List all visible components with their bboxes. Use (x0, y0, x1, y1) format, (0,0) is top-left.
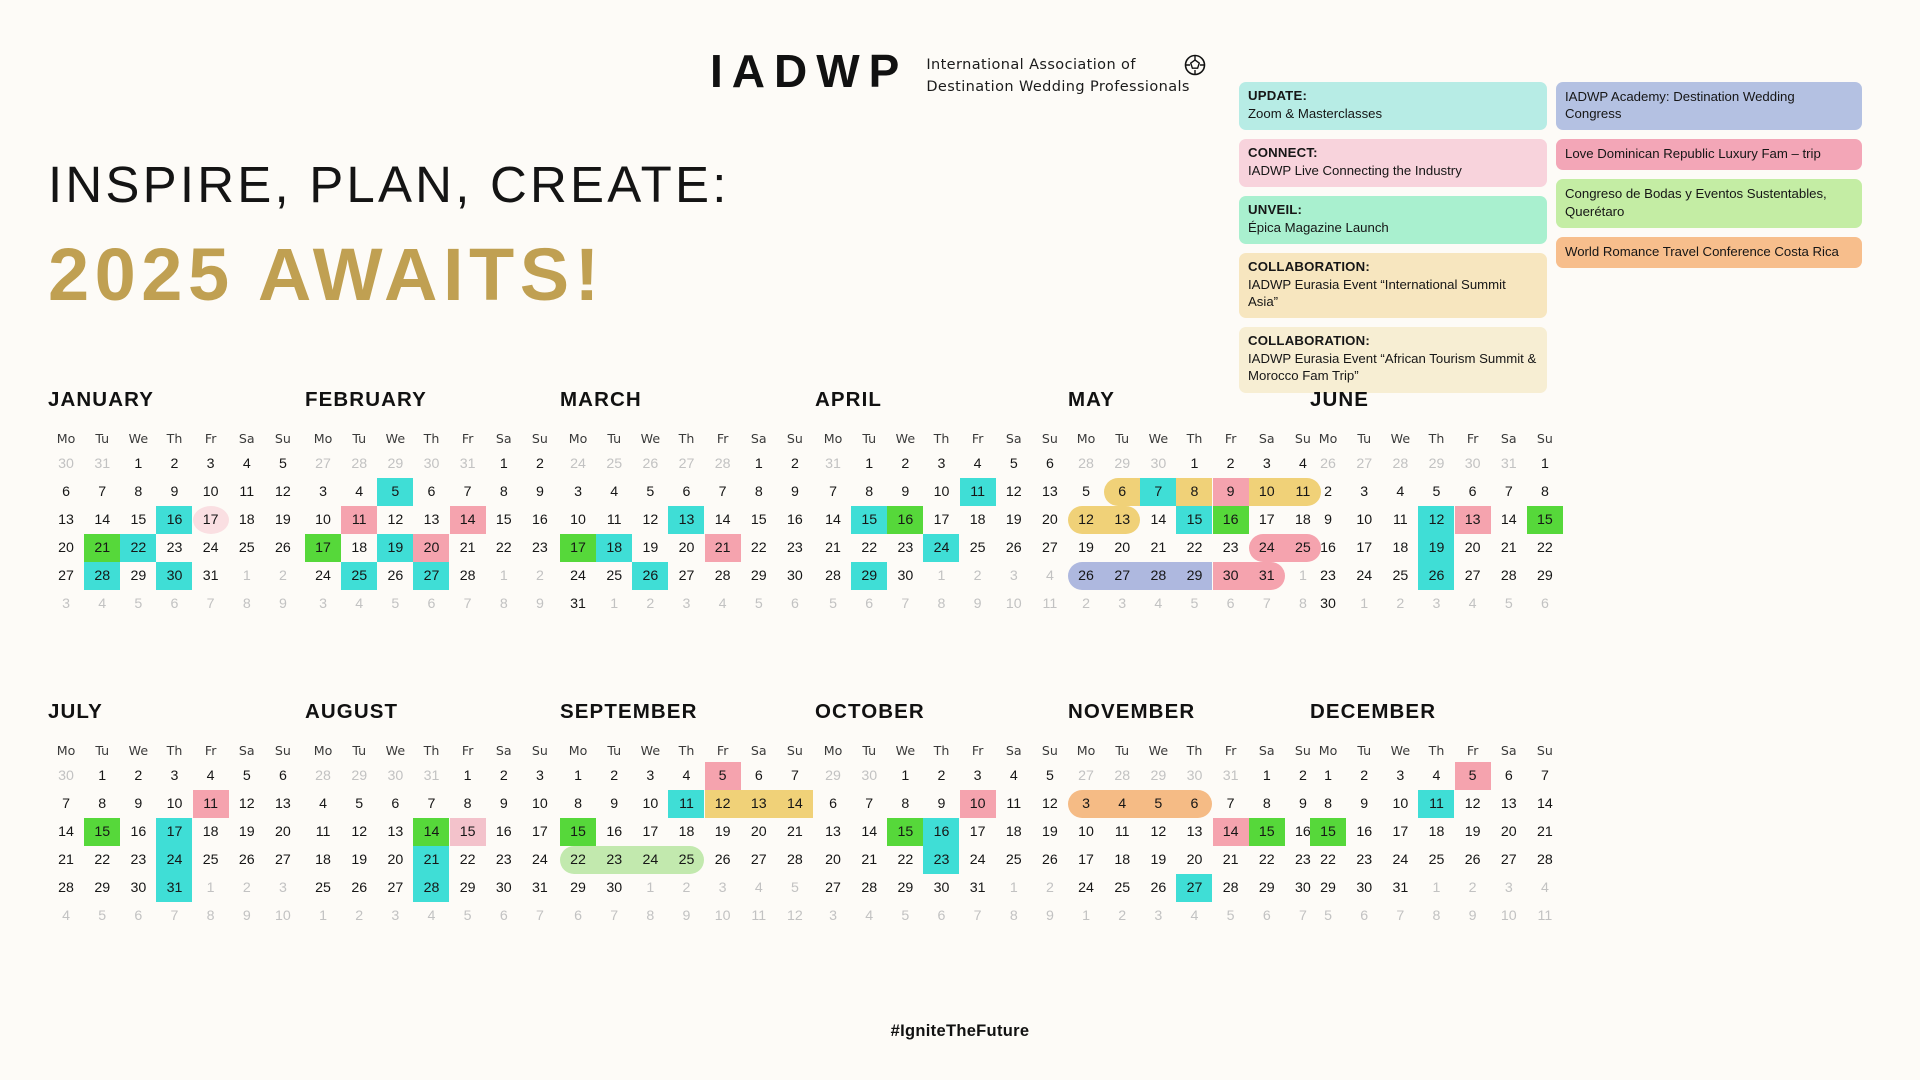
day-cell[interactable]: 21 (1140, 534, 1176, 562)
day-cell[interactable]: 2 (522, 450, 558, 478)
day-cell[interactable]: 8 (120, 478, 156, 506)
day-cell[interactable]: 20 (48, 534, 84, 562)
day-cell[interactable]: 20 (377, 846, 413, 874)
day-cell[interactable]: 27 (265, 846, 301, 874)
day-cell-highlighted[interactable]: 14 (777, 790, 813, 818)
day-cell[interactable]: 7 (1527, 762, 1563, 790)
day-cell[interactable]: 20 (1491, 818, 1527, 846)
day-cell[interactable]: 17 (1382, 818, 1418, 846)
day-cell-highlighted[interactable]: 25 (341, 562, 377, 590)
day-cell[interactable]: 28 (48, 874, 84, 902)
day-cell[interactable]: 13 (48, 506, 84, 534)
day-cell[interactable]: 22 (450, 846, 486, 874)
day-cell[interactable]: 16 (777, 506, 813, 534)
day-cell[interactable]: 29 (1310, 874, 1346, 902)
day-cell[interactable]: 14 (1491, 506, 1527, 534)
day-cell-highlighted[interactable]: 15 (560, 818, 596, 846)
day-cell[interactable]: 30 (777, 562, 813, 590)
day-cell[interactable]: 24 (560, 562, 596, 590)
day-cell-highlighted[interactable]: 8 (1176, 478, 1212, 506)
day-cell[interactable]: 17 (960, 818, 996, 846)
day-cell[interactable]: 13 (377, 818, 413, 846)
day-cell[interactable]: 1 (1527, 450, 1563, 478)
day-cell[interactable]: 19 (1140, 846, 1176, 874)
day-cell[interactable]: 29 (560, 874, 596, 902)
day-cell[interactable]: 4 (229, 450, 265, 478)
day-cell[interactable]: 8 (1310, 790, 1346, 818)
day-cell[interactable]: 22 (84, 846, 120, 874)
day-cell[interactable]: 21 (851, 846, 887, 874)
day-cell[interactable]: 8 (851, 478, 887, 506)
day-cell[interactable]: 31 (960, 874, 996, 902)
day-cell-highlighted[interactable]: 14 (450, 506, 486, 534)
day-cell-highlighted[interactable]: 16 (923, 818, 959, 846)
day-cell[interactable]: 4 (668, 762, 704, 790)
day-cell-highlighted[interactable]: 25 (668, 846, 704, 874)
day-cell[interactable]: 7 (705, 478, 741, 506)
day-cell[interactable]: 23 (887, 534, 923, 562)
day-cell[interactable]: 25 (960, 534, 996, 562)
day-cell[interactable]: 24 (305, 562, 341, 590)
day-cell[interactable]: 7 (815, 478, 851, 506)
day-cell-highlighted[interactable]: 14 (1213, 818, 1249, 846)
day-cell[interactable]: 2 (1346, 762, 1382, 790)
day-cell[interactable]: 27 (1455, 562, 1491, 590)
day-cell[interactable]: 23 (156, 534, 192, 562)
day-cell[interactable]: 12 (341, 818, 377, 846)
day-cell-highlighted[interactable]: 29 (1176, 562, 1212, 590)
day-cell-highlighted[interactable]: 17 (560, 534, 596, 562)
day-cell[interactable]: 5 (1032, 762, 1068, 790)
day-cell[interactable]: 15 (741, 506, 777, 534)
day-cell[interactable]: 12 (265, 478, 301, 506)
day-cell[interactable]: 19 (341, 846, 377, 874)
day-cell[interactable]: 3 (193, 450, 229, 478)
day-cell[interactable]: 16 (1310, 534, 1346, 562)
day-cell-highlighted[interactable]: 23 (596, 846, 632, 874)
day-cell[interactable]: 6 (413, 478, 449, 506)
day-cell[interactable]: 28 (1213, 874, 1249, 902)
day-cell[interactable]: 6 (265, 762, 301, 790)
day-cell[interactable]: 4 (996, 762, 1032, 790)
day-cell[interactable]: 29 (741, 562, 777, 590)
day-cell-highlighted[interactable]: 4 (1104, 790, 1140, 818)
day-cell[interactable]: 17 (923, 506, 959, 534)
day-cell[interactable]: 10 (193, 478, 229, 506)
day-cell[interactable]: 24 (960, 846, 996, 874)
day-cell[interactable]: 29 (120, 562, 156, 590)
day-cell-highlighted[interactable]: 27 (413, 562, 449, 590)
day-cell[interactable]: 17 (632, 818, 668, 846)
day-cell-highlighted[interactable]: 5 (377, 478, 413, 506)
day-cell[interactable]: 19 (1455, 818, 1491, 846)
day-cell[interactable]: 12 (1455, 790, 1491, 818)
day-cell[interactable]: 10 (632, 790, 668, 818)
day-cell-highlighted[interactable]: 15 (1310, 818, 1346, 846)
day-cell[interactable]: 3 (1382, 762, 1418, 790)
day-cell[interactable]: 14 (851, 818, 887, 846)
day-cell[interactable]: 2 (1213, 450, 1249, 478)
day-cell[interactable]: 20 (668, 534, 704, 562)
day-cell-highlighted[interactable]: 17 (156, 818, 192, 846)
day-cell[interactable]: 10 (923, 478, 959, 506)
day-cell-highlighted[interactable]: 24 (1249, 534, 1285, 562)
day-cell-highlighted[interactable]: 27 (1104, 562, 1140, 590)
day-cell[interactable]: 10 (156, 790, 192, 818)
day-cell-highlighted[interactable]: 7 (1140, 478, 1176, 506)
day-cell[interactable]: 27 (48, 562, 84, 590)
day-cell[interactable]: 29 (1249, 874, 1285, 902)
day-cell[interactable]: 6 (1032, 450, 1068, 478)
day-cell[interactable]: 6 (815, 790, 851, 818)
day-cell[interactable]: 1 (486, 450, 522, 478)
day-cell[interactable]: 5 (229, 762, 265, 790)
day-cell-highlighted[interactable]: 21 (705, 534, 741, 562)
day-cell-highlighted[interactable]: 16 (156, 506, 192, 534)
day-cell[interactable]: 17 (1249, 506, 1285, 534)
day-cell-highlighted[interactable]: 11 (960, 478, 996, 506)
day-cell[interactable]: 30 (1346, 874, 1382, 902)
day-cell-highlighted[interactable]: 15 (887, 818, 923, 846)
day-cell[interactable]: 20 (1104, 534, 1140, 562)
day-cell[interactable]: 31 (522, 874, 558, 902)
day-cell[interactable]: 24 (522, 846, 558, 874)
day-cell-highlighted[interactable]: 30 (1213, 562, 1249, 590)
day-cell-highlighted[interactable]: 3 (1068, 790, 1104, 818)
day-cell[interactable]: 24 (1382, 846, 1418, 874)
day-cell[interactable]: 22 (851, 534, 887, 562)
day-cell-highlighted[interactable]: 15 (1176, 506, 1212, 534)
day-cell[interactable]: 15 (486, 506, 522, 534)
day-cell[interactable]: 25 (596, 562, 632, 590)
day-cell-highlighted[interactable]: 24 (923, 534, 959, 562)
day-cell[interactable]: 9 (1310, 506, 1346, 534)
day-cell-highlighted[interactable]: 28 (413, 874, 449, 902)
day-cell[interactable]: 26 (705, 846, 741, 874)
day-cell[interactable]: 27 (668, 562, 704, 590)
day-cell-highlighted[interactable]: 5 (1455, 762, 1491, 790)
day-cell[interactable]: 9 (923, 790, 959, 818)
day-cell[interactable]: 14 (1140, 506, 1176, 534)
day-cell[interactable]: 11 (596, 506, 632, 534)
day-cell[interactable]: 3 (1346, 478, 1382, 506)
day-cell-highlighted[interactable]: 5 (705, 762, 741, 790)
day-cell[interactable]: 6 (741, 762, 777, 790)
day-cell-highlighted[interactable]: 21 (413, 846, 449, 874)
day-cell[interactable]: 25 (1104, 874, 1140, 902)
day-cell-highlighted[interactable]: 17 (305, 534, 341, 562)
day-cell[interactable]: 25 (229, 534, 265, 562)
day-cell[interactable]: 14 (48, 818, 84, 846)
day-cell[interactable]: 25 (996, 846, 1032, 874)
day-cell[interactable]: 9 (156, 478, 192, 506)
day-cell[interactable]: 23 (1310, 562, 1346, 590)
day-cell-highlighted[interactable]: 10 (960, 790, 996, 818)
day-cell[interactable]: 25 (305, 874, 341, 902)
day-cell[interactable]: 14 (1527, 790, 1563, 818)
day-cell[interactable]: 26 (341, 874, 377, 902)
day-cell[interactable]: 10 (522, 790, 558, 818)
day-cell[interactable]: 7 (851, 790, 887, 818)
day-cell[interactable]: 14 (705, 506, 741, 534)
day-cell[interactable]: 14 (815, 506, 851, 534)
day-cell-highlighted[interactable]: 15 (1527, 506, 1563, 534)
day-cell-highlighted[interactable]: 22 (120, 534, 156, 562)
day-cell[interactable]: 22 (1249, 846, 1285, 874)
day-cell[interactable]: 22 (486, 534, 522, 562)
day-cell[interactable]: 6 (1455, 478, 1491, 506)
day-cell[interactable]: 20 (815, 846, 851, 874)
day-cell[interactable]: 2 (887, 450, 923, 478)
day-cell[interactable]: 6 (1491, 762, 1527, 790)
day-cell[interactable]: 26 (1032, 846, 1068, 874)
day-cell-highlighted[interactable]: 13 (1104, 506, 1140, 534)
day-cell[interactable]: 18 (1382, 534, 1418, 562)
day-cell[interactable]: 16 (1346, 818, 1382, 846)
day-cell[interactable]: 19 (705, 818, 741, 846)
day-cell[interactable]: 21 (815, 534, 851, 562)
day-cell-highlighted[interactable]: 21 (84, 534, 120, 562)
day-cell-highlighted[interactable]: 26 (1418, 562, 1454, 590)
day-cell-highlighted[interactable]: 11 (668, 790, 704, 818)
day-cell[interactable]: 12 (1032, 790, 1068, 818)
day-cell[interactable]: 3 (923, 450, 959, 478)
day-cell[interactable]: 12 (229, 790, 265, 818)
day-cell[interactable]: 12 (1140, 818, 1176, 846)
day-cell[interactable]: 9 (120, 790, 156, 818)
day-cell-highlighted[interactable]: 19 (377, 534, 413, 562)
day-cell[interactable]: 7 (413, 790, 449, 818)
day-cell-highlighted[interactable]: 29 (851, 562, 887, 590)
day-cell-highlighted[interactable]: 26 (632, 562, 668, 590)
day-cell[interactable]: 16 (522, 506, 558, 534)
day-cell[interactable]: 7 (48, 790, 84, 818)
day-cell-highlighted[interactable]: 15 (450, 818, 486, 846)
day-cell[interactable]: 16 (596, 818, 632, 846)
day-cell[interactable]: 28 (1491, 562, 1527, 590)
day-cell-highlighted[interactable]: 13 (668, 506, 704, 534)
day-cell[interactable]: 21 (777, 818, 813, 846)
day-cell-highlighted[interactable]: 16 (887, 506, 923, 534)
day-cell[interactable]: 2 (1310, 478, 1346, 506)
day-cell[interactable]: 4 (341, 478, 377, 506)
day-cell[interactable]: 28 (1527, 846, 1563, 874)
day-cell[interactable]: 30 (1310, 590, 1346, 618)
day-cell-highlighted[interactable]: 24 (632, 846, 668, 874)
day-cell[interactable]: 26 (996, 534, 1032, 562)
day-cell[interactable]: 10 (305, 506, 341, 534)
day-cell[interactable]: 20 (1176, 846, 1212, 874)
day-cell[interactable]: 10 (1382, 790, 1418, 818)
day-cell[interactable]: 4 (960, 450, 996, 478)
day-cell-highlighted[interactable]: 14 (413, 818, 449, 846)
day-cell[interactable]: 1 (84, 762, 120, 790)
day-cell[interactable]: 30 (120, 874, 156, 902)
day-cell[interactable]: 7 (1491, 478, 1527, 506)
day-cell[interactable]: 18 (229, 506, 265, 534)
day-cell-highlighted[interactable]: 15 (84, 818, 120, 846)
day-cell[interactable]: 26 (1140, 874, 1176, 902)
day-cell-highlighted[interactable]: 12 (705, 790, 741, 818)
day-cell[interactable]: 1 (560, 762, 596, 790)
day-cell[interactable]: 2 (486, 762, 522, 790)
day-cell-highlighted[interactable]: 26 (1068, 562, 1104, 590)
day-cell[interactable]: 19 (1068, 534, 1104, 562)
day-cell[interactable]: 9 (486, 790, 522, 818)
day-cell[interactable]: 9 (1346, 790, 1382, 818)
day-cell[interactable]: 13 (815, 818, 851, 846)
day-cell[interactable]: 27 (815, 874, 851, 902)
day-cell[interactable]: 2 (923, 762, 959, 790)
day-cell[interactable]: 19 (229, 818, 265, 846)
day-cell[interactable]: 23 (486, 846, 522, 874)
day-cell[interactable]: 5 (1418, 478, 1454, 506)
day-cell-highlighted[interactable]: 6 (1104, 478, 1140, 506)
day-cell[interactable]: 29 (887, 874, 923, 902)
day-cell[interactable]: 2 (156, 450, 192, 478)
day-cell[interactable]: 5 (996, 450, 1032, 478)
day-cell[interactable]: 26 (1455, 846, 1491, 874)
day-cell[interactable]: 30 (887, 562, 923, 590)
day-cell[interactable]: 4 (193, 762, 229, 790)
day-cell[interactable]: 19 (996, 506, 1032, 534)
day-cell[interactable]: 28 (777, 846, 813, 874)
day-cell-highlighted[interactable]: 9 (1213, 478, 1249, 506)
day-cell[interactable]: 10 (1068, 818, 1104, 846)
day-cell[interactable]: 11 (305, 818, 341, 846)
day-cell[interactable]: 8 (1249, 790, 1285, 818)
day-cell[interactable]: 4 (596, 478, 632, 506)
day-cell[interactable]: 14 (84, 506, 120, 534)
day-cell[interactable]: 2 (120, 762, 156, 790)
day-cell[interactable]: 22 (1527, 534, 1563, 562)
day-cell[interactable]: 7 (450, 478, 486, 506)
day-cell[interactable]: 21 (48, 846, 84, 874)
day-cell[interactable]: 9 (887, 478, 923, 506)
day-cell[interactable]: 31 (560, 590, 596, 618)
day-cell[interactable]: 3 (960, 762, 996, 790)
day-cell[interactable]: 28 (450, 562, 486, 590)
day-cell[interactable]: 2 (596, 762, 632, 790)
day-cell[interactable]: 21 (1213, 846, 1249, 874)
day-cell[interactable]: 19 (632, 534, 668, 562)
day-cell[interactable]: 30 (486, 874, 522, 902)
day-cell[interactable]: 2 (777, 450, 813, 478)
day-cell[interactable]: 27 (377, 874, 413, 902)
day-cell[interactable]: 30 (923, 874, 959, 902)
day-cell[interactable]: 22 (741, 534, 777, 562)
day-cell[interactable]: 27 (1491, 846, 1527, 874)
day-cell[interactable]: 12 (632, 506, 668, 534)
day-cell[interactable]: 11 (1382, 506, 1418, 534)
day-cell[interactable]: 31 (1382, 874, 1418, 902)
day-cell[interactable]: 13 (413, 506, 449, 534)
day-cell[interactable]: 23 (777, 534, 813, 562)
day-cell[interactable]: 20 (265, 818, 301, 846)
day-cell[interactable]: 25 (193, 846, 229, 874)
day-cell-highlighted[interactable]: 15 (1249, 818, 1285, 846)
day-cell[interactable]: 18 (193, 818, 229, 846)
day-cell[interactable]: 6 (668, 478, 704, 506)
day-cell[interactable]: 4 (1418, 762, 1454, 790)
day-cell-highlighted[interactable]: 17 (193, 506, 229, 534)
day-cell-highlighted[interactable]: 20 (413, 534, 449, 562)
day-cell-highlighted[interactable]: 6 (1176, 790, 1212, 818)
day-cell[interactable]: 6 (48, 478, 84, 506)
day-cell[interactable]: 27 (1032, 534, 1068, 562)
day-cell[interactable]: 21 (450, 534, 486, 562)
day-cell[interactable]: 18 (305, 846, 341, 874)
day-cell[interactable]: 7 (777, 762, 813, 790)
day-cell-highlighted[interactable]: 12 (1068, 506, 1104, 534)
day-cell[interactable]: 11 (229, 478, 265, 506)
day-cell[interactable]: 22 (887, 846, 923, 874)
day-cell[interactable]: 4 (305, 790, 341, 818)
day-cell[interactable]: 29 (84, 874, 120, 902)
day-cell[interactable]: 18 (996, 818, 1032, 846)
day-cell-highlighted[interactable]: 31 (1249, 562, 1285, 590)
day-cell[interactable]: 11 (996, 790, 1032, 818)
day-cell-highlighted[interactable]: 5 (1140, 790, 1176, 818)
day-cell[interactable]: 29 (450, 874, 486, 902)
day-cell[interactable]: 26 (377, 562, 413, 590)
day-cell[interactable]: 23 (120, 846, 156, 874)
day-cell-highlighted[interactable]: 31 (156, 874, 192, 902)
day-cell[interactable]: 3 (522, 762, 558, 790)
day-cell[interactable]: 26 (265, 534, 301, 562)
day-cell[interactable]: 8 (560, 790, 596, 818)
day-cell[interactable]: 26 (229, 846, 265, 874)
day-cell[interactable]: 21 (1491, 534, 1527, 562)
day-cell-highlighted[interactable]: 18 (596, 534, 632, 562)
day-cell-highlighted[interactable]: 13 (1455, 506, 1491, 534)
day-cell[interactable]: 8 (741, 478, 777, 506)
day-cell[interactable]: 13 (1032, 478, 1068, 506)
day-cell[interactable]: 9 (777, 478, 813, 506)
day-cell[interactable]: 8 (450, 790, 486, 818)
day-cell[interactable]: 23 (1213, 534, 1249, 562)
day-cell-highlighted[interactable]: 28 (84, 562, 120, 590)
day-cell-highlighted[interactable]: 22 (560, 846, 596, 874)
day-cell[interactable]: 4 (1382, 478, 1418, 506)
day-cell[interactable]: 3 (156, 762, 192, 790)
day-cell[interactable]: 20 (1455, 534, 1491, 562)
day-cell[interactable]: 12 (996, 478, 1032, 506)
day-cell[interactable]: 1 (450, 762, 486, 790)
day-cell[interactable]: 9 (522, 478, 558, 506)
day-cell[interactable]: 6 (377, 790, 413, 818)
day-cell[interactable]: 22 (1176, 534, 1212, 562)
day-cell[interactable]: 1 (120, 450, 156, 478)
day-cell-highlighted[interactable]: 19 (1418, 534, 1454, 562)
day-cell[interactable]: 17 (522, 818, 558, 846)
day-cell[interactable]: 7 (1213, 790, 1249, 818)
day-cell-highlighted[interactable]: 11 (341, 506, 377, 534)
day-cell[interactable]: 28 (705, 562, 741, 590)
day-cell[interactable]: 1 (1310, 762, 1346, 790)
day-cell-highlighted[interactable]: 10 (1249, 478, 1285, 506)
day-cell[interactable]: 10 (560, 506, 596, 534)
day-cell[interactable]: 8 (887, 790, 923, 818)
day-cell[interactable]: 24 (193, 534, 229, 562)
day-cell-highlighted[interactable]: 16 (1213, 506, 1249, 534)
day-cell[interactable]: 18 (960, 506, 996, 534)
day-cell[interactable]: 5 (341, 790, 377, 818)
day-cell-highlighted[interactable]: 11 (193, 790, 229, 818)
day-cell[interactable]: 18 (341, 534, 377, 562)
day-cell[interactable]: 3 (1249, 450, 1285, 478)
day-cell-highlighted[interactable]: 28 (1140, 562, 1176, 590)
